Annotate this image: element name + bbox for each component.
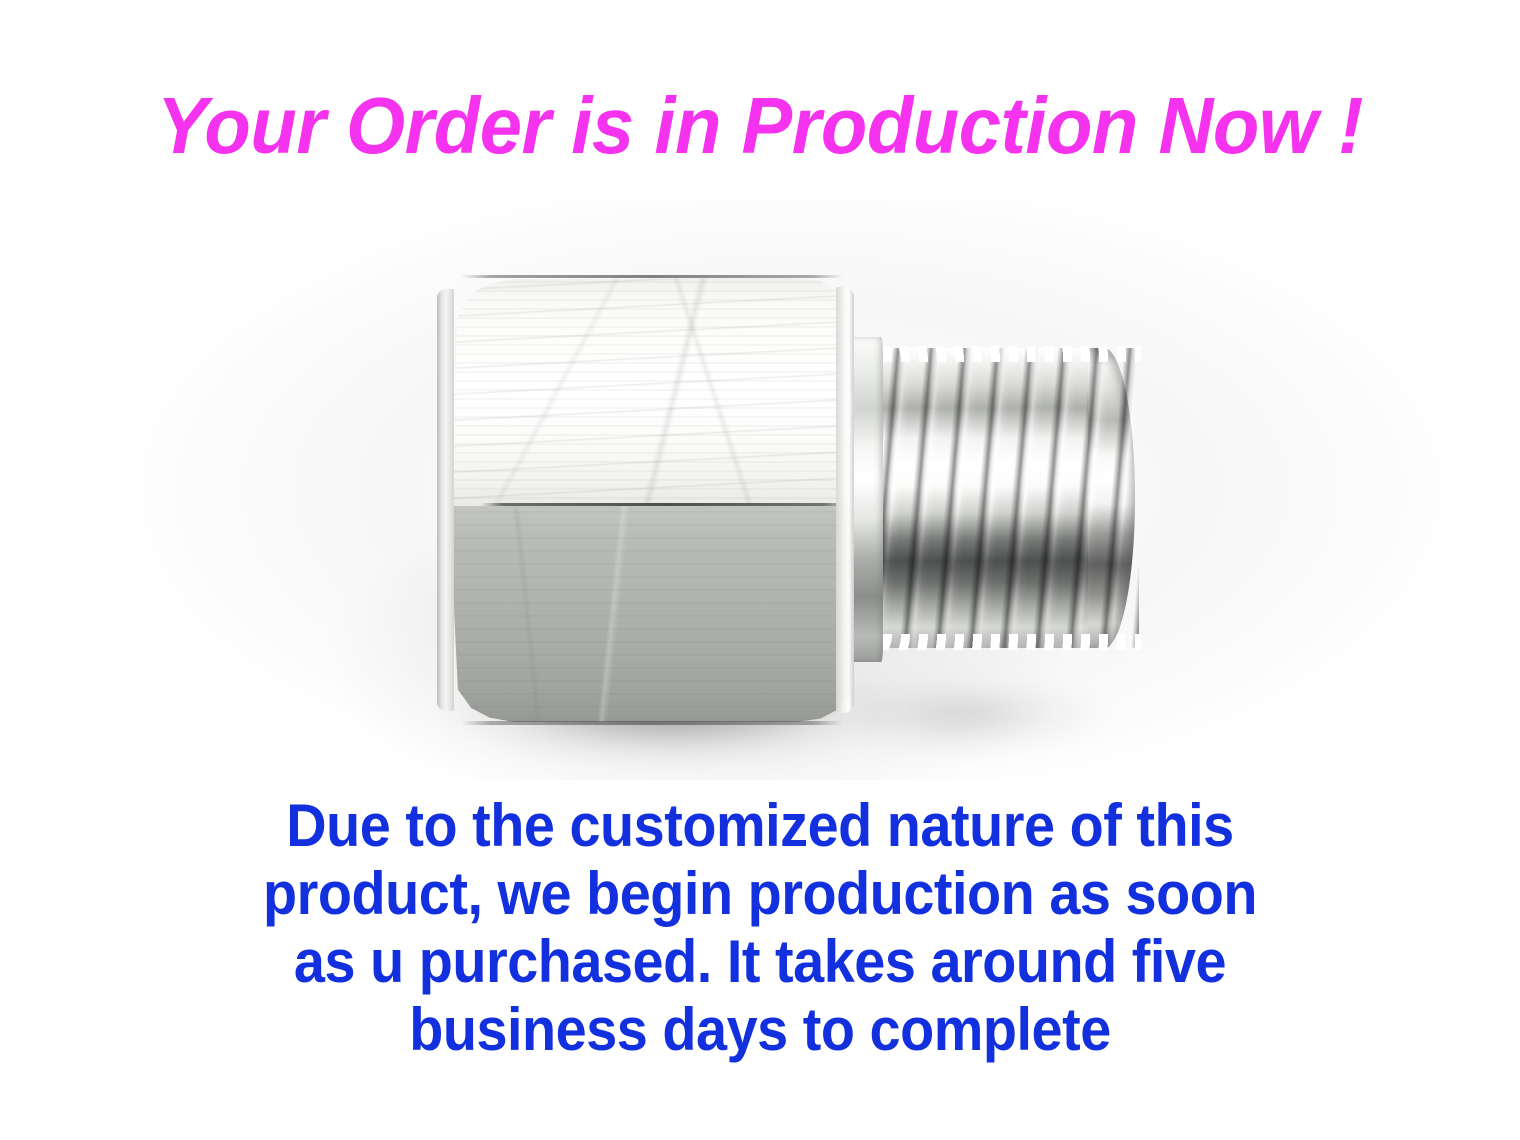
thread-crest-bottom-silhouette — [847, 634, 1141, 650]
notice-line-4: business days to complete — [53, 996, 1467, 1064]
notice-line-2: product, we begin production as soon — [53, 860, 1467, 928]
hex-facet-upper-scuffs — [449, 278, 853, 506]
hex-facet-lower — [449, 506, 853, 722]
thread-specular-highlight — [849, 348, 1139, 648]
hex-bottom-edge-line — [461, 721, 843, 725]
hex-left-chamfer — [437, 289, 454, 711]
threaded-nipple — [853, 348, 1135, 648]
product-photo — [0, 200, 1520, 780]
notice-line-3: as u purchased. It takes around five — [53, 928, 1467, 996]
hex-facet-lower-scuffs — [449, 506, 853, 722]
hex-pipe-adapter-fitting — [435, 275, 1135, 725]
production-notice: Due to the customized nature of this pro… — [0, 792, 1520, 1064]
hex-top-edge-line — [461, 275, 843, 278]
hex-facet-upper — [449, 278, 853, 506]
page-title: Your Order is in Production Now ! — [38, 86, 1482, 166]
hex-right-chamfer — [836, 287, 854, 713]
notice-line-1: Due to the customized nature of this — [53, 792, 1467, 860]
hex-nut-body — [435, 275, 875, 725]
